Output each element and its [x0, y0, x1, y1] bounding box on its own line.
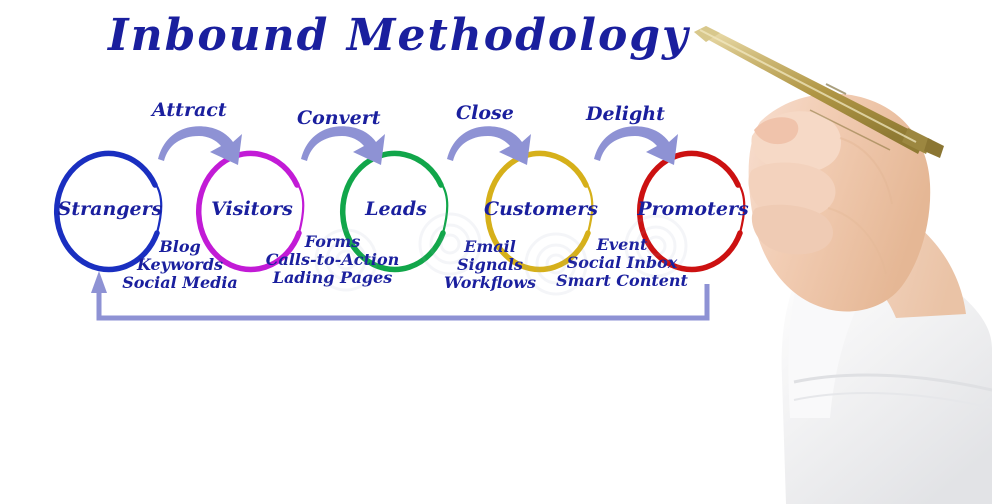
- stock-photo-watermark: [300, 188, 730, 328]
- inbound-methodology-diagram: Inbound Methodology: [0, 0, 992, 504]
- transition-label-convert: Convert: [297, 107, 381, 129]
- transition-label-delight: Delight: [586, 103, 665, 125]
- hand-with-pen-photo: [690, 18, 992, 504]
- tactic-item: Keywords: [120, 256, 240, 274]
- stage-label-strangers: Strangers: [40, 198, 180, 220]
- transition-label-attract: Attract: [152, 99, 227, 121]
- tactic-item: Social Media: [120, 274, 240, 292]
- transition-label-close: Close: [456, 102, 514, 124]
- page-title: Inbound Methodology: [108, 10, 690, 61]
- tactics-strangers: Blog Keywords Social Media: [120, 238, 240, 292]
- tactic-item: Blog: [120, 238, 240, 256]
